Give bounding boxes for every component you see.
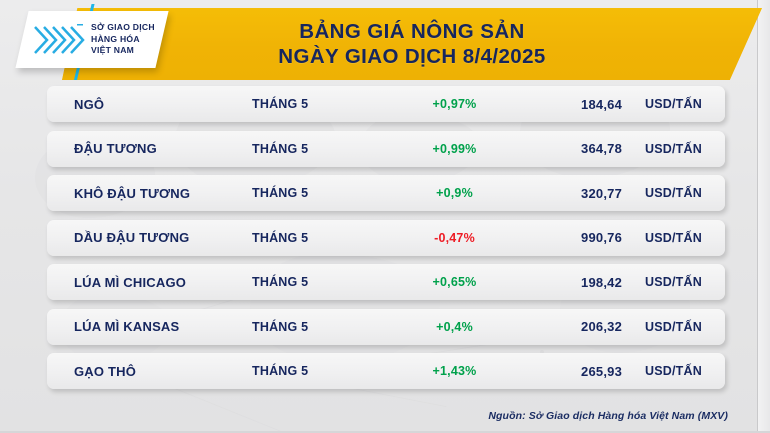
price-unit: USD/TẤN — [622, 320, 722, 334]
table-row[interactable]: LÚA MÌ KANSASTHÁNG 5+0,4%206,32USD/TẤN — [47, 309, 725, 345]
mxv-logo-text: SỞ GIAO DỊCH HÀNG HÓA VIỆT NAM — [91, 22, 155, 57]
table-row[interactable]: ĐẬU TƯƠNGTHÁNG 5+0,99%364,78USD/TẤN — [47, 131, 725, 167]
price-unit: USD/TẤN — [622, 186, 722, 200]
price-table: NGÔTHÁNG 5+0,97%184,64USD/TẤNĐẬU TƯƠNGTH… — [0, 86, 758, 398]
price-unit: USD/TẤN — [622, 231, 722, 245]
header-title-block: BẢNG GIÁ NÔNG SẢN NGÀY GIAO DỊCH 8/4/202… — [62, 8, 762, 80]
logo-line-3: VIỆT NAM — [91, 45, 155, 57]
page-title-line-1: BẢNG GIÁ NÔNG SẢN — [299, 19, 524, 44]
commodity-name: ĐẬU TƯƠNG — [47, 141, 252, 156]
contract-month: THÁNG 5 — [252, 142, 387, 156]
table-row[interactable]: LÚA MÌ CHICAGOTHÁNG 5+0,65%198,42USD/TẤN — [47, 264, 725, 300]
contract-month: THÁNG 5 — [252, 275, 387, 289]
price-unit: USD/TẤN — [622, 275, 722, 289]
source-note: Nguồn: Sở Giao dịch Hàng hóa Việt Nam (M… — [488, 410, 728, 422]
change-percent: +0,99% — [387, 142, 522, 156]
frame-right-gutter — [758, 0, 770, 433]
table-row[interactable]: KHÔ ĐẬU TƯƠNGTHÁNG 5+0,9%320,77USD/TẤN — [47, 175, 725, 211]
change-percent: +0,4% — [387, 320, 522, 334]
price-value: 364,78 — [522, 141, 622, 156]
change-percent: +0,97% — [387, 97, 522, 111]
contract-month: THÁNG 5 — [252, 320, 387, 334]
price-unit: USD/TẤN — [622, 142, 722, 156]
price-value: 320,77 — [522, 186, 622, 201]
commodity-name: LÚA MÌ KANSAS — [47, 319, 252, 334]
commodity-name: GẠO THÔ — [47, 364, 252, 379]
price-value: 990,76 — [522, 230, 622, 245]
contract-month: THÁNG 5 — [252, 97, 387, 111]
price-value: 198,42 — [522, 275, 622, 290]
commodity-name: NGÔ — [47, 97, 252, 112]
price-value: 184,64 — [522, 97, 622, 112]
logo-line-2: HÀNG HÓA — [91, 34, 155, 46]
price-value: 206,32 — [522, 319, 622, 334]
table-row[interactable]: GẠO THÔTHÁNG 5+1,43%265,93USD/TẤN — [47, 353, 725, 389]
table-row[interactable]: DẦU ĐẬU TƯƠNGTHÁNG 5-0,47%990,76USD/TẤN — [47, 220, 725, 256]
price-board-screenshot: BẢNG GIÁ NÔNG SẢN NGÀY GIAO DỊCH 8/4/202… — [0, 0, 770, 433]
page-title-line-2: NGÀY GIAO DỊCH 8/4/2025 — [278, 44, 545, 69]
commodity-name: LÚA MÌ CHICAGO — [47, 275, 252, 290]
commodity-name: KHÔ ĐẬU TƯƠNG — [47, 186, 252, 201]
price-unit: USD/TẤN — [622, 97, 722, 111]
price-value: 265,93 — [522, 364, 622, 379]
mxv-logo-card: SỞ GIAO DỊCH HÀNG HÓA VIỆT NAM — [15, 11, 168, 68]
contract-month: THÁNG 5 — [252, 231, 387, 245]
change-percent: +0,9% — [387, 186, 522, 200]
mxv-logo-icon — [33, 23, 85, 57]
commodity-name: DẦU ĐẬU TƯƠNG — [47, 230, 252, 245]
price-unit: USD/TẤN — [622, 364, 722, 378]
contract-month: THÁNG 5 — [252, 364, 387, 378]
logo-line-1: SỞ GIAO DỊCH — [91, 22, 155, 34]
change-percent: -0,47% — [387, 231, 522, 245]
change-percent: +1,43% — [387, 364, 522, 378]
contract-month: THÁNG 5 — [252, 186, 387, 200]
table-row[interactable]: NGÔTHÁNG 5+0,97%184,64USD/TẤN — [47, 86, 725, 122]
change-percent: +0,65% — [387, 275, 522, 289]
